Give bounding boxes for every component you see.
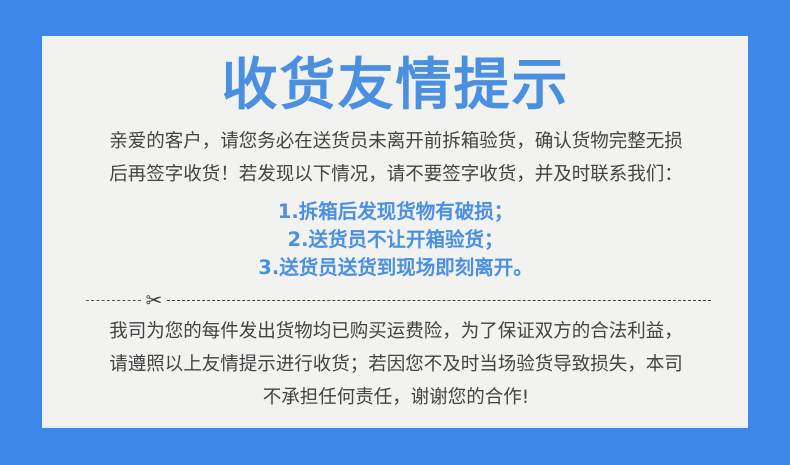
notice-canvas: 收货友情提示 亲爱的客户，请您务必在送货员未离开前拆箱验货，确认货物完整无损 后… [0, 0, 790, 465]
closing-line: 我司为您的每件发出货物均已购买运费险，为了保证双方的合法利益， [69, 315, 723, 348]
intro-line: 后再签字收货！若发现以下情况，请不要签字收货，并及时联系我们： [69, 158, 723, 191]
cut-separator: ✂ [86, 289, 711, 311]
closing-line: 请遵照以上友情提示进行收货；若因您不及时当场验货导致损失，本司 [69, 348, 723, 381]
scissors-icon: ✂ [142, 289, 166, 311]
warning-list: 1.拆箱后发现货物有破损； 2.送货员不让开箱验货； 3.送货员送货到现场即刻离… [43, 198, 748, 282]
intro-paragraph: 亲爱的客户，请您务必在送货员未离开前拆箱验货，确认货物完整无损 后再签字收货！若… [69, 125, 723, 191]
list-item: 1.拆箱后发现货物有破损； [43, 198, 748, 226]
notice-card: 收货友情提示 亲爱的客户，请您务必在送货员未离开前拆箱验货，确认货物完整无损 后… [42, 36, 748, 428]
list-item: 2.送货员不让开箱验货； [43, 226, 748, 254]
divider-left [86, 300, 141, 301]
page-title: 收货友情提示 [43, 56, 748, 116]
closing-paragraph: 我司为您的每件发出货物均已购买运费险，为了保证双方的合法利益， 请遵照以上友情提… [69, 315, 723, 414]
intro-line: 亲爱的客户，请您务必在送货员未离开前拆箱验货，确认货物完整无损 [69, 125, 723, 158]
list-item: 3.送货员送货到现场即刻离开。 [43, 254, 748, 282]
divider-right [167, 300, 711, 301]
closing-line: 不承担任何责任，谢谢您的合作! [69, 381, 723, 414]
